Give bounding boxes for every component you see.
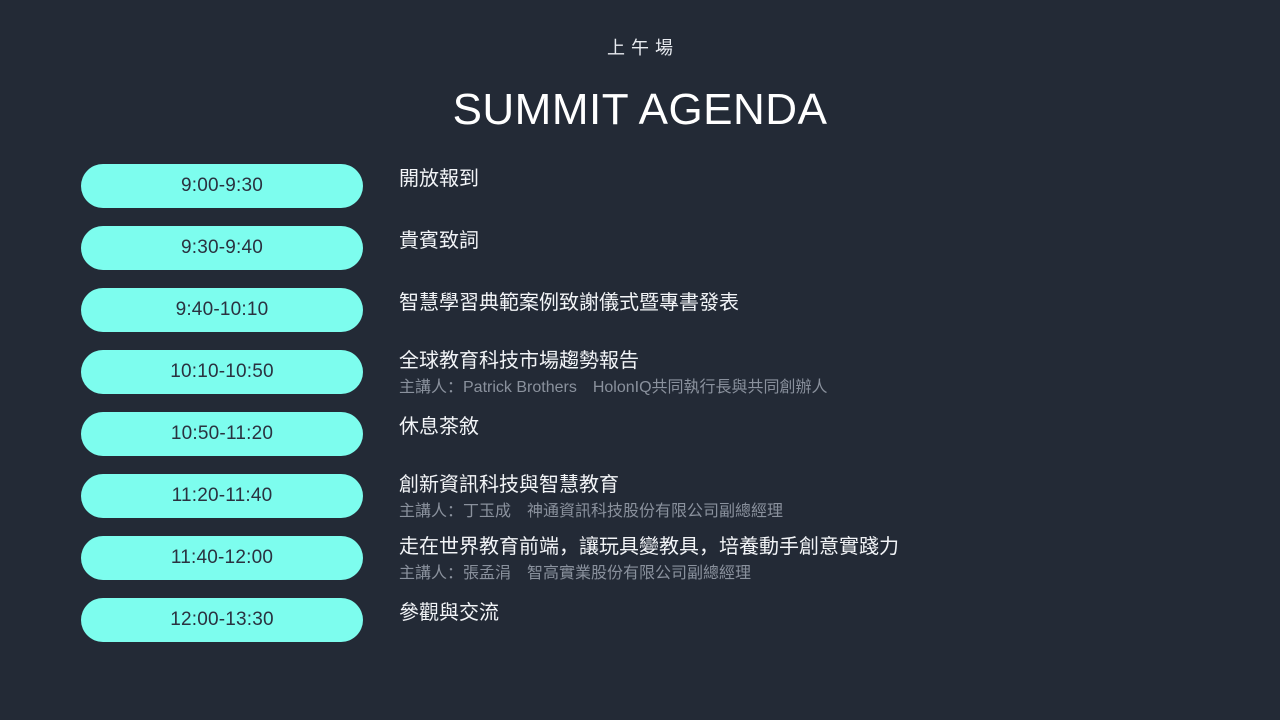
time-pill: 10:50-11:20 (81, 412, 363, 456)
time-pill: 12:00-13:30 (81, 598, 363, 642)
agenda-row: 11:20-11:40 創新資訊科技與智慧教育 主講人：丁玉成 神通資訊科技股份… (81, 474, 1201, 536)
session-label: 上午場 (0, 34, 1280, 60)
agenda-item-speaker: 主講人：丁玉成 神通資訊科技股份有限公司副總經理 (399, 500, 1199, 524)
agenda-item-title: 全球教育科技市場趨勢報告 (399, 347, 1199, 375)
agenda-item-title: 休息茶敘 (399, 413, 1199, 441)
agenda-slide: 上午場 SUMMIT AGENDA 9:00-9:30 開放報到 9:30-9:… (0, 0, 1280, 720)
time-pill: 9:40-10:10 (81, 288, 363, 332)
agenda-row: 9:40-10:10 智慧學習典範案例致謝儀式暨專書發表 (81, 288, 1201, 350)
agenda-list: 9:00-9:30 開放報到 9:30-9:40 貴賓致詞 9:40-10:10… (81, 164, 1201, 660)
agenda-row-text: 走在世界教育前端，讓玩具變教具，培養動手創意實踐力 主講人：張孟涓 智高實業股份… (399, 532, 1199, 586)
agenda-item-title: 參觀與交流 (399, 599, 1199, 627)
agenda-row-text: 開放報到 (399, 164, 1199, 193)
agenda-item-title: 貴賓致詞 (399, 227, 1199, 255)
agenda-row: 10:50-11:20 休息茶敘 (81, 412, 1201, 474)
agenda-item-title: 走在世界教育前端，讓玩具變教具，培養動手創意實踐力 (399, 533, 1199, 561)
time-pill: 10:10-10:50 (81, 350, 363, 394)
agenda-row: 9:00-9:30 開放報到 (81, 164, 1201, 226)
agenda-row-text: 參觀與交流 (399, 598, 1199, 627)
agenda-row-text: 休息茶敘 (399, 412, 1199, 441)
agenda-row-text: 創新資訊科技與智慧教育 主講人：丁玉成 神通資訊科技股份有限公司副總經理 (399, 470, 1199, 524)
time-pill: 11:40-12:00 (81, 536, 363, 580)
agenda-row: 11:40-12:00 走在世界教育前端，讓玩具變教具，培養動手創意實踐力 主講… (81, 536, 1201, 598)
agenda-item-title: 開放報到 (399, 165, 1199, 193)
agenda-item-speaker: 主講人：張孟涓 智高實業股份有限公司副總經理 (399, 562, 1199, 586)
agenda-row-text: 智慧學習典範案例致謝儀式暨專書發表 (399, 288, 1199, 317)
agenda-row: 9:30-9:40 貴賓致詞 (81, 226, 1201, 288)
page-title: SUMMIT AGENDA (0, 84, 1280, 136)
agenda-row: 12:00-13:30 參觀與交流 (81, 598, 1201, 660)
time-pill: 9:30-9:40 (81, 226, 363, 270)
agenda-row: 10:10-10:50 全球教育科技市場趨勢報告 主講人：Patrick Bro… (81, 350, 1201, 412)
agenda-row-text: 貴賓致詞 (399, 226, 1199, 255)
time-pill: 9:00-9:30 (81, 164, 363, 208)
time-pill: 11:20-11:40 (81, 474, 363, 518)
agenda-item-speaker: 主講人：Patrick Brothers HolonIQ共同執行長與共同創辦人 (399, 376, 1199, 400)
agenda-item-title: 創新資訊科技與智慧教育 (399, 471, 1199, 499)
agenda-row-text: 全球教育科技市場趨勢報告 主講人：Patrick Brothers HolonI… (399, 346, 1199, 400)
agenda-item-title: 智慧學習典範案例致謝儀式暨專書發表 (399, 289, 1199, 317)
